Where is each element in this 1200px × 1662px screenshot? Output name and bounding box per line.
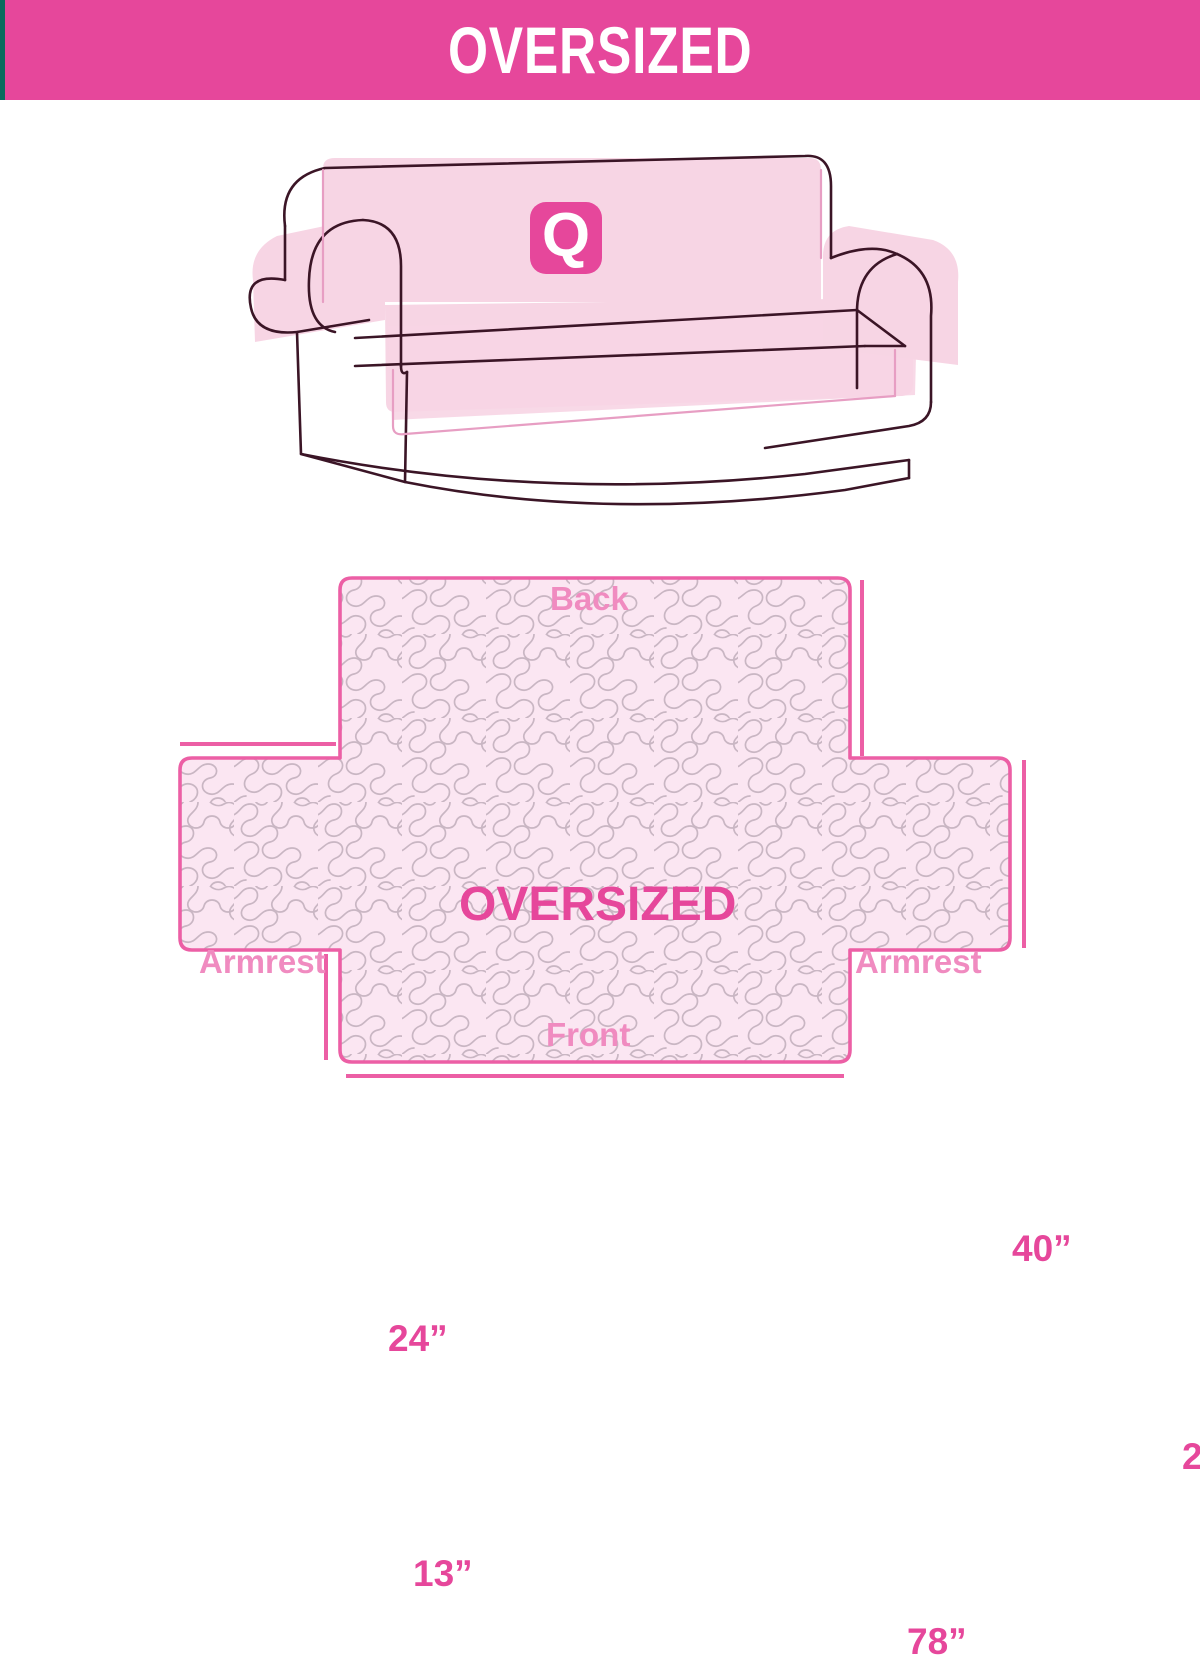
dimension-diagram-svg — [150, 550, 1200, 1130]
dimension-label-23: 23” — [1182, 1438, 1200, 1475]
dimension-label-78: 78” — [907, 1623, 967, 1660]
slipcover-dimension-diagram: 24” 40” 23” 13” 78” — [150, 550, 1200, 1130]
slipcover-outline — [180, 578, 1010, 1062]
brand-logo-letter: Q — [542, 205, 590, 267]
dimension-label-24: 24” — [388, 1320, 448, 1357]
dimension-label-40: 40” — [1012, 1230, 1072, 1267]
panel-label-armrest-left: Armrest — [199, 945, 326, 978]
banner-accent-edge — [0, 0, 5, 100]
header-banner: OVERSIZED — [0, 0, 1200, 100]
sofa-right-arm-fill — [823, 226, 958, 365]
panel-label-back: Back — [550, 582, 629, 615]
sofa-right-arm-bottom — [765, 402, 931, 448]
panel-label-front: Front — [546, 1018, 630, 1051]
brand-logo-badge: Q — [530, 202, 602, 274]
banner-title: OVERSIZED — [448, 17, 753, 83]
dimension-label-13: 13” — [413, 1555, 473, 1592]
panel-label-armrest-right: Armrest — [855, 945, 982, 978]
sofa-illustration: Q — [245, 130, 975, 520]
sofa-base-bottom — [405, 478, 909, 504]
diagram-center-label: OVERSIZED — [459, 881, 736, 929]
infographic-root: OVERSIZED — [0, 0, 1200, 1200]
sofa-line-drawing — [245, 130, 975, 520]
